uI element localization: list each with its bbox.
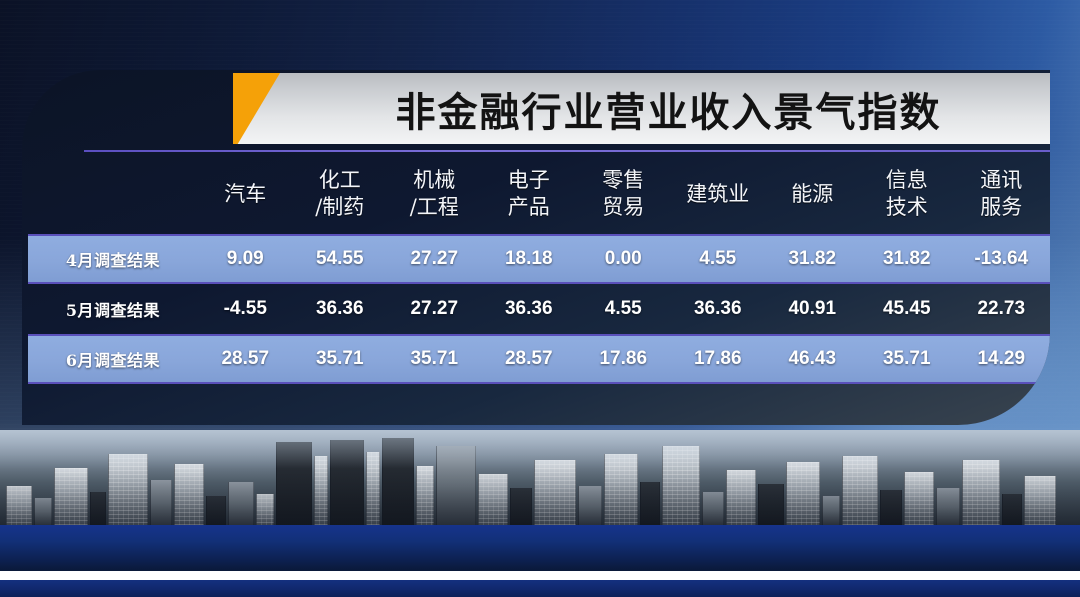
table-row: 5月调查结果 -4.55 36.36 27.27 36.36 4.55 36.3… bbox=[28, 284, 1050, 334]
cell-2-6: 46.43 bbox=[765, 348, 860, 370]
cell-2-1: 35.71 bbox=[293, 348, 388, 370]
title-bar: 非金融行业营业收入景气指数 bbox=[233, 73, 1050, 144]
column-header-0: 汽车 bbox=[198, 181, 293, 208]
cell-0-0: 9.09 bbox=[198, 248, 293, 270]
row-label-1: 5月调查结果 bbox=[28, 297, 198, 321]
table-row: 4月调查结果 9.09 54.55 27.27 18.18 0.00 4.55 … bbox=[28, 234, 1050, 284]
content-panel: 非金融行业营业收入景气指数 汽车 化工/制药 机械/工程 电子产品 零售 bbox=[22, 70, 1050, 425]
cell-2-7: 35.71 bbox=[860, 348, 955, 370]
cell-1-1: 36.36 bbox=[293, 298, 388, 320]
cell-1-7: 45.45 bbox=[860, 298, 955, 320]
cell-2-2: 35.71 bbox=[387, 348, 482, 370]
cell-1-5: 36.36 bbox=[671, 298, 766, 320]
table-header-row: 汽车 化工/制药 机械/工程 电子产品 零售贸易 建筑业 能源 bbox=[28, 154, 1050, 234]
footer-band-separator bbox=[0, 571, 1080, 580]
title-divider bbox=[84, 150, 1050, 152]
cell-1-4: 4.55 bbox=[576, 298, 671, 320]
cell-0-1: 54.55 bbox=[293, 248, 388, 270]
accent-wedge-icon bbox=[233, 73, 280, 144]
cell-1-0: -4.55 bbox=[198, 298, 293, 320]
footer-band-primary bbox=[0, 525, 1080, 571]
cell-1-3: 36.36 bbox=[482, 298, 577, 320]
row-label-0: 4月调查结果 bbox=[28, 247, 198, 271]
cell-2-3: 28.57 bbox=[482, 348, 577, 370]
cell-2-4: 17.86 bbox=[576, 348, 671, 370]
column-header-6: 能源 bbox=[765, 181, 860, 208]
slide-canvas: 非金融行业营业收入景气指数 汽车 化工/制药 机械/工程 电子产品 零售 bbox=[0, 0, 1080, 597]
column-header-1: 化工/制药 bbox=[293, 167, 388, 221]
column-header-2: 机械/工程 bbox=[387, 167, 482, 221]
cell-1-8: 22.73 bbox=[954, 298, 1049, 320]
cell-0-8: -13.64 bbox=[954, 248, 1049, 270]
cell-2-8: 14.29 bbox=[954, 348, 1049, 370]
column-header-7: 信息技术 bbox=[860, 167, 955, 221]
cell-0-4: 0.00 bbox=[576, 248, 671, 270]
column-header-5: 建筑业 bbox=[671, 181, 766, 208]
cell-0-2: 27.27 bbox=[387, 248, 482, 270]
column-header-8: 通讯服务 bbox=[954, 167, 1049, 221]
cell-0-6: 31.82 bbox=[765, 248, 860, 270]
cell-0-5: 4.55 bbox=[671, 248, 766, 270]
cell-2-0: 28.57 bbox=[198, 348, 293, 370]
footer-band-secondary bbox=[0, 580, 1080, 597]
cell-1-2: 27.27 bbox=[387, 298, 482, 320]
data-table: 汽车 化工/制药 机械/工程 电子产品 零售贸易 建筑业 能源 bbox=[28, 154, 1050, 384]
table-row: 6月调查结果 28.57 35.71 35.71 28.57 17.86 17.… bbox=[28, 334, 1050, 384]
city-skyline-photo bbox=[0, 430, 1080, 526]
column-header-4: 零售贸易 bbox=[576, 167, 671, 221]
page-title: 非金融行业营业收入景气指数 bbox=[297, 73, 1040, 144]
row-label-2: 6月调查结果 bbox=[28, 347, 198, 371]
cell-2-5: 17.86 bbox=[671, 348, 766, 370]
cell-0-3: 18.18 bbox=[482, 248, 577, 270]
column-header-3: 电子产品 bbox=[482, 167, 577, 221]
cell-1-6: 40.91 bbox=[765, 298, 860, 320]
cell-0-7: 31.82 bbox=[860, 248, 955, 270]
